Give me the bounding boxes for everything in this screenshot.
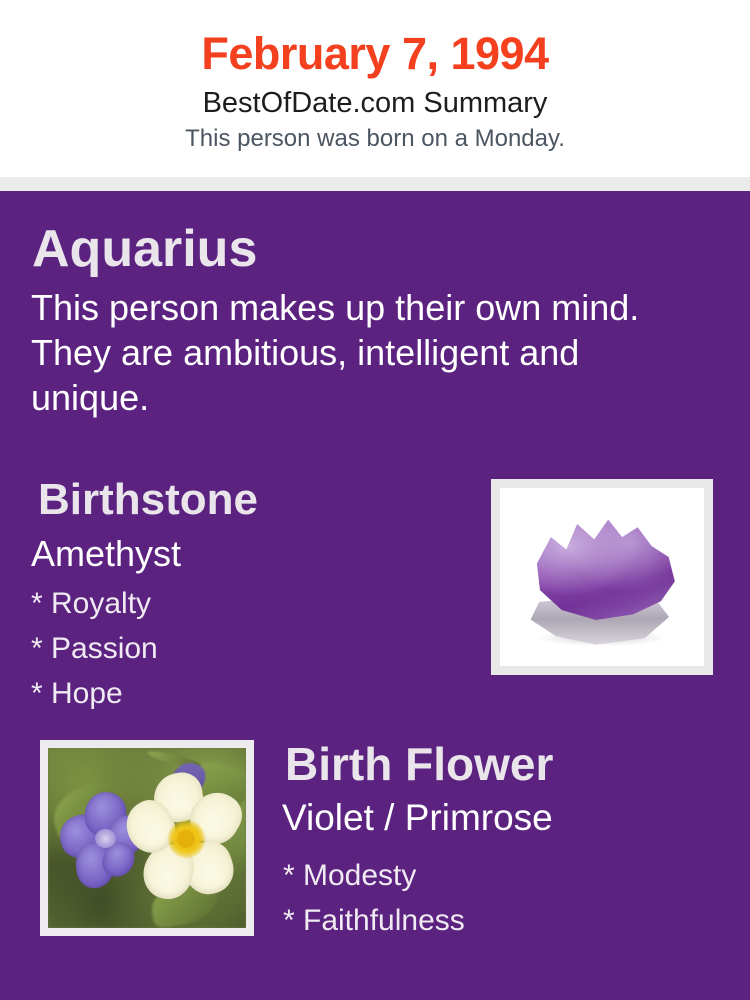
birthstone-heading: Birthstone — [38, 474, 258, 526]
summary-page: February 7, 1994 BestOfDate.com Summary … — [0, 0, 750, 1000]
list-item: * Faithfulness — [283, 898, 465, 943]
zodiac-description: This person makes up their own mind. The… — [31, 285, 691, 420]
birth-flower-heading: Birth Flower — [285, 737, 553, 791]
birth-flower-photo-frame — [40, 740, 254, 936]
list-item: * Passion — [31, 626, 158, 671]
violet-center — [95, 829, 116, 848]
birth-flower-name: Violet / Primrose — [282, 796, 553, 840]
page-title-date: February 7, 1994 — [0, 0, 750, 82]
details-panel: Aquarius This person makes up their own … — [0, 191, 750, 1000]
amethyst-image — [500, 488, 704, 666]
primrose-center — [168, 820, 205, 858]
flower-image — [48, 748, 246, 928]
list-item: * Modesty — [283, 853, 465, 898]
birthstone-photo-frame — [491, 479, 713, 675]
birthstone-photo — [500, 488, 704, 666]
zodiac-sign-heading: Aquarius — [32, 219, 257, 279]
list-item: * Hope — [31, 671, 158, 716]
site-summary-subtitle: BestOfDate.com Summary — [0, 82, 750, 121]
list-item: * Royalty — [31, 581, 158, 626]
birthstone-trait-list: * Royalty * Passion * Hope — [31, 581, 158, 716]
birth-flower-trait-list: * Modesty * Faithfulness — [283, 853, 465, 943]
header-divider — [0, 177, 750, 191]
birthstone-name: Amethyst — [31, 533, 181, 575]
primrose-flower — [127, 773, 246, 910]
page-header: February 7, 1994 BestOfDate.com Summary … — [0, 0, 750, 177]
born-day-note: This person was born on a Monday. — [0, 121, 750, 154]
birth-flower-photo — [48, 748, 246, 928]
